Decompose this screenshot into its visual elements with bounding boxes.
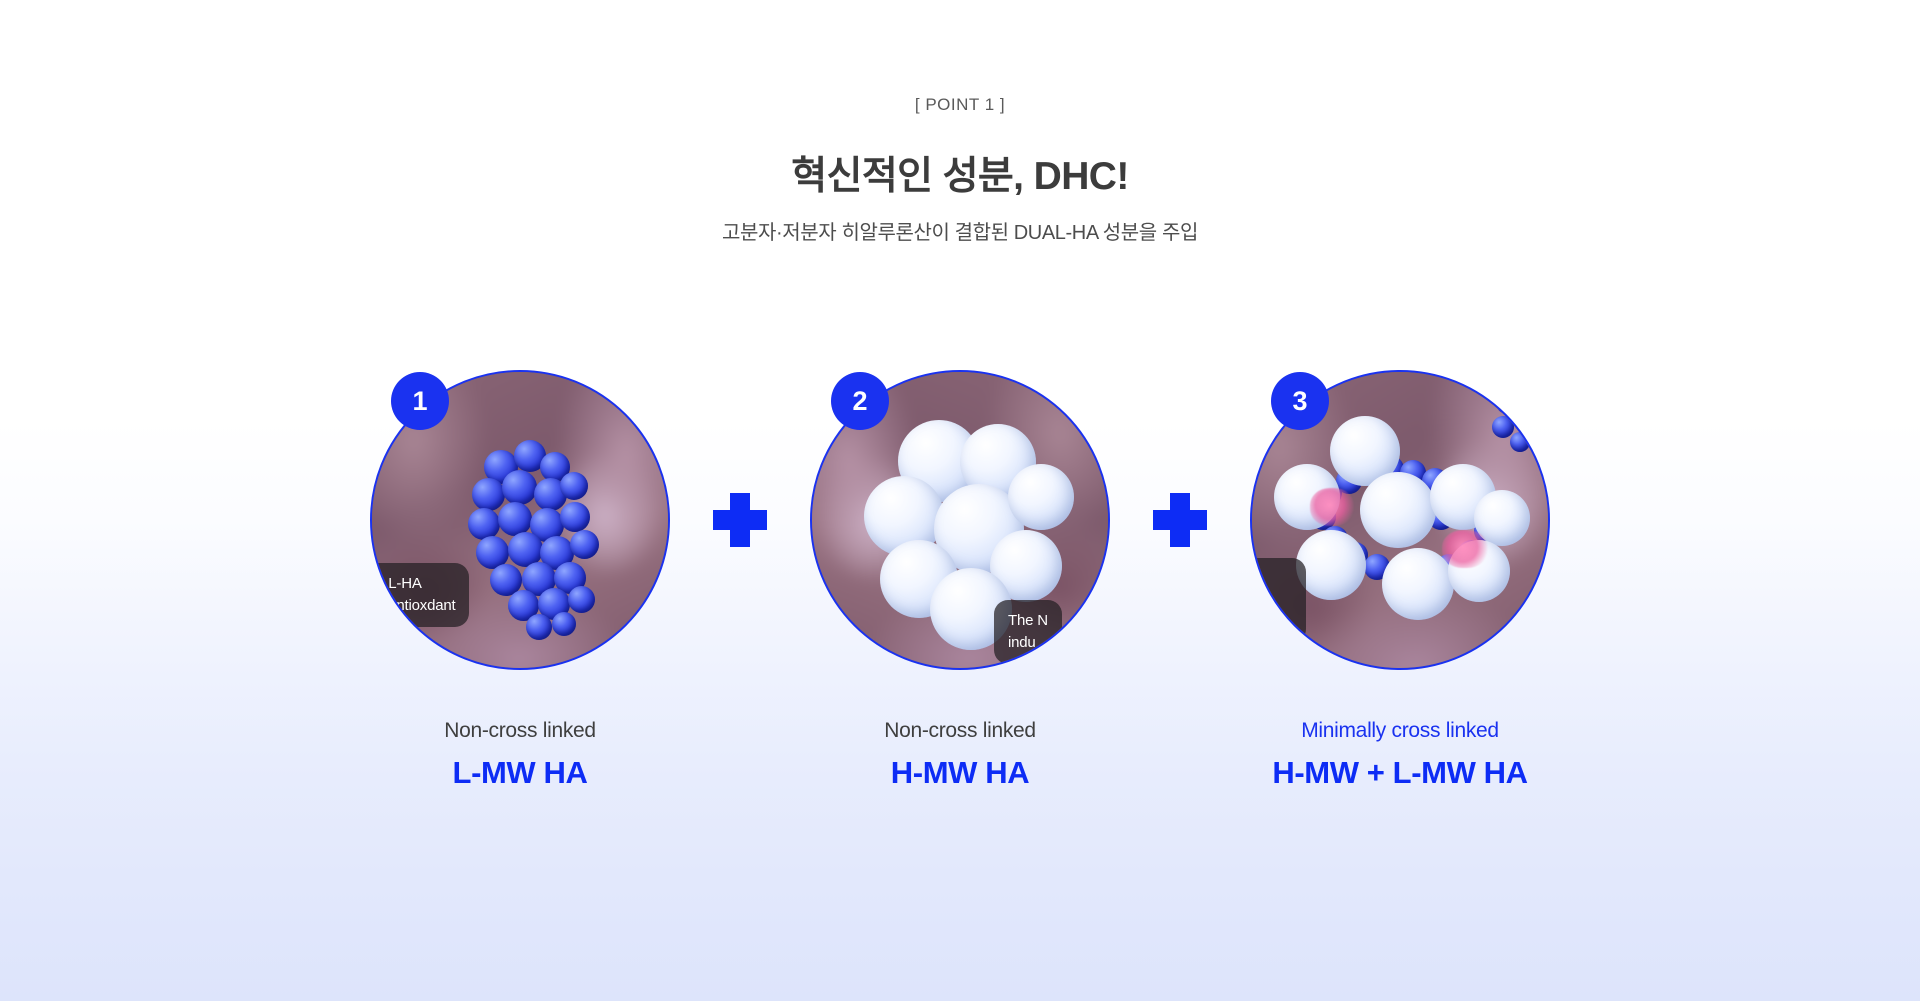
card-badge-1: 1 [391, 372, 449, 430]
ingredient-label-1-top: Non-cross linked [370, 718, 670, 743]
overlay-caption-2-line-2: indu [1008, 632, 1048, 654]
ingredient-card-3[interactable]: ing l role, imulation. 3 [1250, 370, 1550, 670]
ingredient-label-3-main: H-MW + L-MW HA [1250, 754, 1550, 791]
overlay-caption-3: ing l role, imulation. [1250, 558, 1306, 643]
point-tag: [ POINT 1 ] [0, 96, 1920, 113]
section-header: [ POINT 1 ] 혁신적인 성분, DHC! 고분자·저분자 히알루론산이… [0, 96, 1920, 246]
plus-icon [1153, 493, 1207, 547]
overlay-caption-1: ed L-HA an antioxdant [370, 563, 469, 627]
overlay-caption-1-line-2: an antioxdant [370, 595, 455, 617]
ingredient-label-1: Non-cross linked L-MW HA [370, 718, 670, 791]
ingredient-label-2-top: Non-cross linked [810, 718, 1110, 743]
page-title: 혁신적인 성분, DHC! [0, 155, 1920, 200]
ingredient-label-3: Minimally cross linked H-MW + L-MW HA [1250, 718, 1550, 791]
point-1-section: [ POINT 1 ] 혁신적인 성분, DHC! 고분자·저분자 히알루론산이… [0, 0, 1920, 1001]
ingredient-label-2: Non-cross linked H-MW HA [810, 718, 1110, 791]
overlay-caption-2: The N indu [994, 600, 1062, 664]
card-badge-2: 2 [831, 372, 889, 430]
ingredient-card-1[interactable]: ed L-HA an antioxdant 1 [370, 370, 670, 670]
card-badge-3: 3 [1271, 372, 1329, 430]
page-subtitle: 고분자·저분자 히알루론산이 결합된 DUAL-HA 성분을 주입 [0, 220, 1920, 246]
ingredient-card-2[interactable]: The N indu 2 [810, 370, 1110, 670]
overlay-caption-1-line-1: ed L-HA [370, 573, 455, 595]
overlay-caption-3-line-2: l role, [1250, 590, 1292, 612]
ingredient-label-1-main: L-MW HA [370, 754, 670, 791]
plus-separator-1 [670, 370, 810, 670]
ingredient-cards-row: ed L-HA an antioxdant 1 [0, 370, 1920, 670]
overlay-caption-3-line-1: ing [1250, 568, 1292, 590]
plus-icon [713, 493, 767, 547]
ingredient-label-2-main: H-MW HA [810, 754, 1110, 791]
plus-separator-2 [1110, 370, 1250, 670]
overlay-caption-3-line-3: imulation. [1250, 612, 1292, 634]
ingredient-label-3-top: Minimally cross linked [1250, 718, 1550, 743]
ingredient-labels-row: Non-cross linked L-MW HA Non-cross linke… [0, 718, 1920, 791]
overlay-caption-2-line-1: The N [1008, 610, 1048, 632]
